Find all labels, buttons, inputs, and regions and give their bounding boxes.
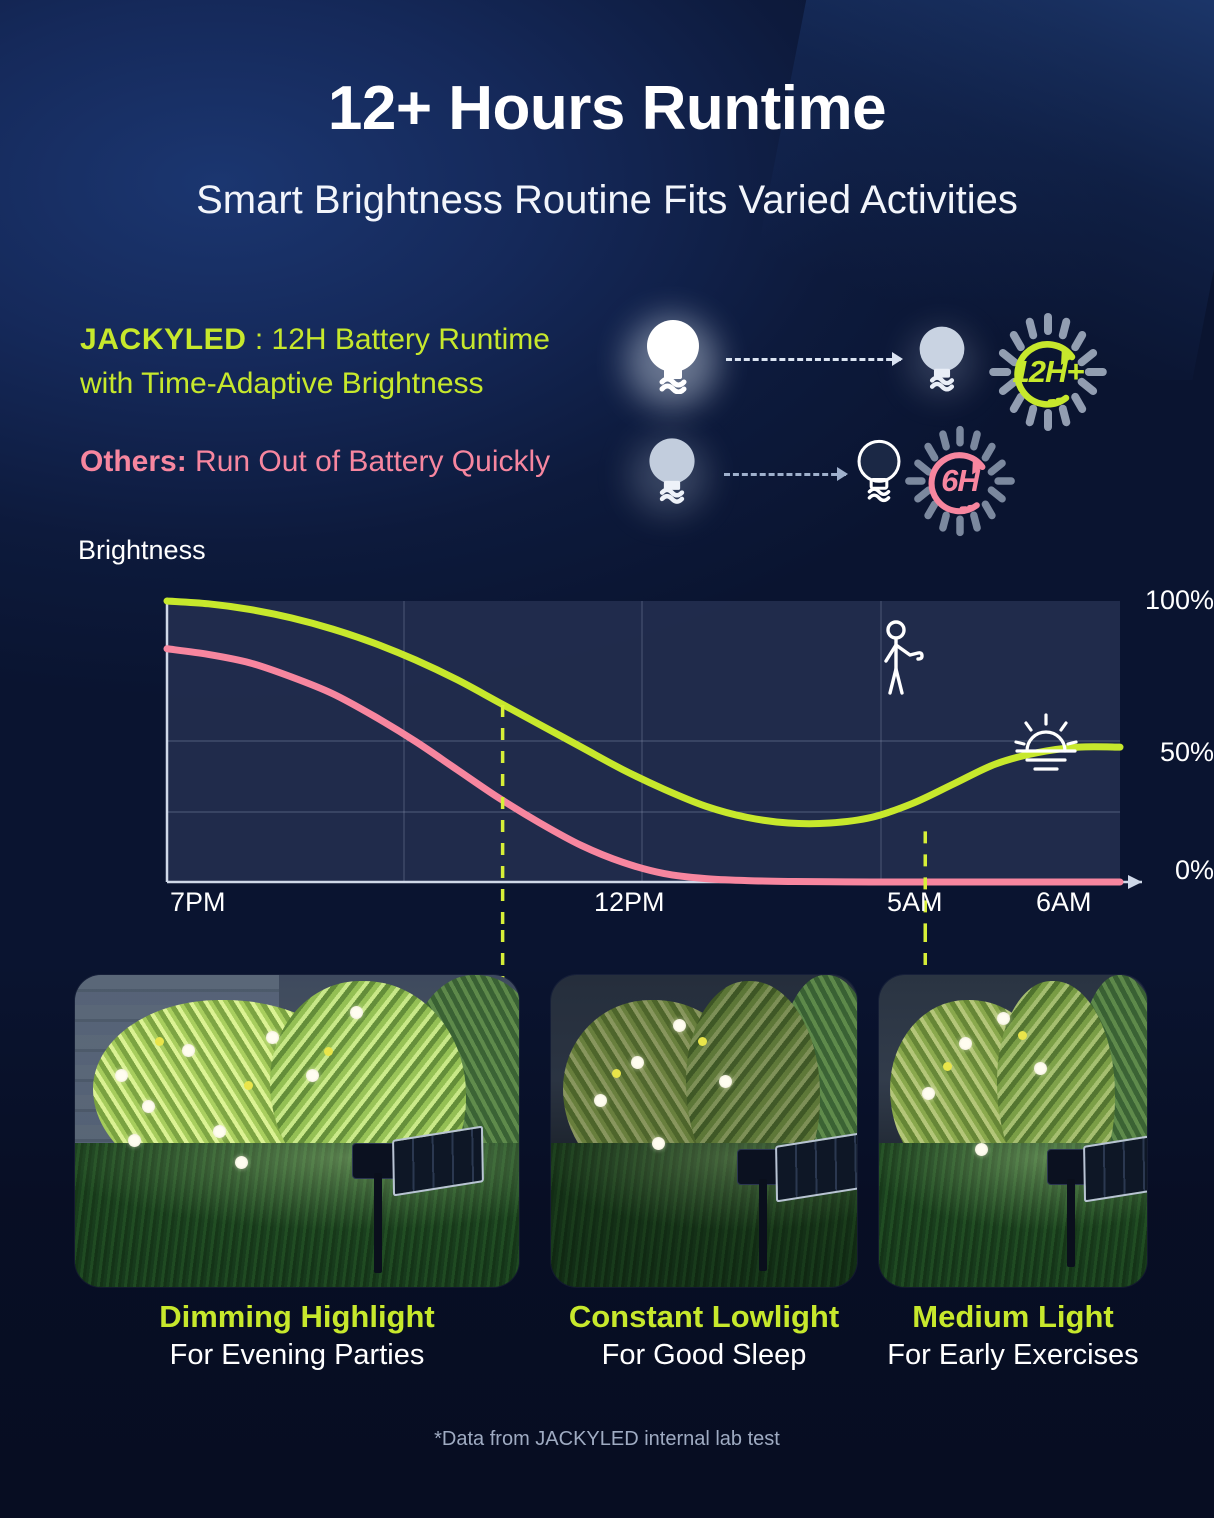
jackyled-claim-line2: with Time-Adaptive Brightness	[80, 362, 620, 406]
brightness-chart: Brightness 100% 50% 0%	[0, 525, 1214, 935]
caption-1-subtitle: For Evening Parties	[75, 1337, 519, 1375]
x-tick-7pm: 7PM	[170, 887, 226, 918]
comparison-section: JACKYLED : 12H Battery Runtime with Time…	[0, 300, 1214, 525]
badge-6h-label: 6H	[904, 425, 1016, 537]
caption-3-title: Medium Light	[869, 1298, 1157, 1337]
caption-medium-light: Medium Light For Early Exercises	[869, 1298, 1157, 1374]
jackyled-bulb-row: 12H+	[620, 310, 1140, 415]
caption-2-title: Constant Lowlight	[541, 1298, 867, 1337]
badge-6h: 6H	[904, 425, 1016, 537]
jackyled-claim-line1: JACKYLED : 12H Battery Runtime	[80, 318, 620, 362]
caption-constant-lowlight: Constant Lowlight For Good Sleep	[541, 1298, 867, 1374]
bulb-off-icon	[852, 437, 906, 503]
photo-constant-lowlight[interactable]	[551, 975, 857, 1287]
page-title: 12+ Hours Runtime	[0, 78, 1214, 140]
solar-lamp-2	[735, 1131, 855, 1271]
x-tick-6am: 6AM	[1036, 887, 1092, 918]
photo-scene-1	[75, 975, 519, 1287]
others-bulb-row: 6H	[620, 425, 1140, 530]
y-tick-50: 50%	[1134, 737, 1214, 768]
arrow-bright-to-dim	[726, 358, 901, 360]
others-text: Run Out of Battery Quickly	[187, 445, 550, 478]
others-claim: Others: Run Out of Battery Quickly	[80, 440, 620, 484]
jackyled-claim: JACKYLED : 12H Battery Runtime with Time…	[80, 318, 620, 407]
solar-lamp-1	[350, 1125, 480, 1275]
caption-2-subtitle: For Good Sleep	[541, 1337, 867, 1375]
jackyled-runtime-text: 12H Battery Runtime	[272, 323, 550, 356]
photo-medium-light[interactable]	[879, 975, 1147, 1287]
photo-captions: Dimming Highlight For Evening Parties Co…	[0, 1298, 1214, 1408]
caption-dimming-highlight: Dimming Highlight For Evening Parties	[75, 1298, 519, 1374]
badge-12h-plus-label: 12H+	[988, 312, 1108, 432]
photo-strip	[0, 975, 1214, 1295]
infographic-root: 12+ Hours Runtime Smart Brightness Routi…	[0, 0, 1214, 1518]
chart-plot-area: z z z	[0, 525, 1214, 935]
caption-3-subtitle: For Early Exercises	[869, 1337, 1157, 1375]
x-tick-5am: 5AM	[887, 887, 943, 918]
photo-scene-3	[879, 975, 1147, 1287]
x-tick-12pm: 12PM	[594, 887, 665, 918]
footnote: *Data from JACKYLED internal lab test	[0, 1428, 1214, 1451]
caption-1-title: Dimming Highlight	[75, 1298, 519, 1337]
arrow-dim-to-off	[724, 473, 846, 475]
bulb-dimmed-icon	[914, 324, 970, 392]
bulb-medium-icon	[644, 435, 700, 505]
y-tick-0: 0%	[1134, 855, 1214, 886]
y-tick-100: 100%	[1134, 585, 1214, 616]
jackyled-separator: :	[247, 323, 272, 356]
bulb-bright-icon	[642, 318, 704, 394]
chart-y-axis-title: Brightness	[78, 535, 206, 566]
solar-lamp-3	[1045, 1131, 1147, 1265]
jackyled-brand: JACKYLED	[80, 323, 247, 356]
photo-scene-2	[551, 975, 857, 1287]
photo-dimming-highlight[interactable]	[75, 975, 519, 1287]
others-claim-line: Others: Run Out of Battery Quickly	[80, 440, 620, 484]
page-subtitle: Smart Brightness Routine Fits Varied Act…	[0, 178, 1214, 222]
others-label: Others:	[80, 445, 187, 478]
bulb-comparison-icons: 12H+	[620, 300, 1140, 525]
badge-12h-plus: 12H+	[988, 312, 1108, 432]
